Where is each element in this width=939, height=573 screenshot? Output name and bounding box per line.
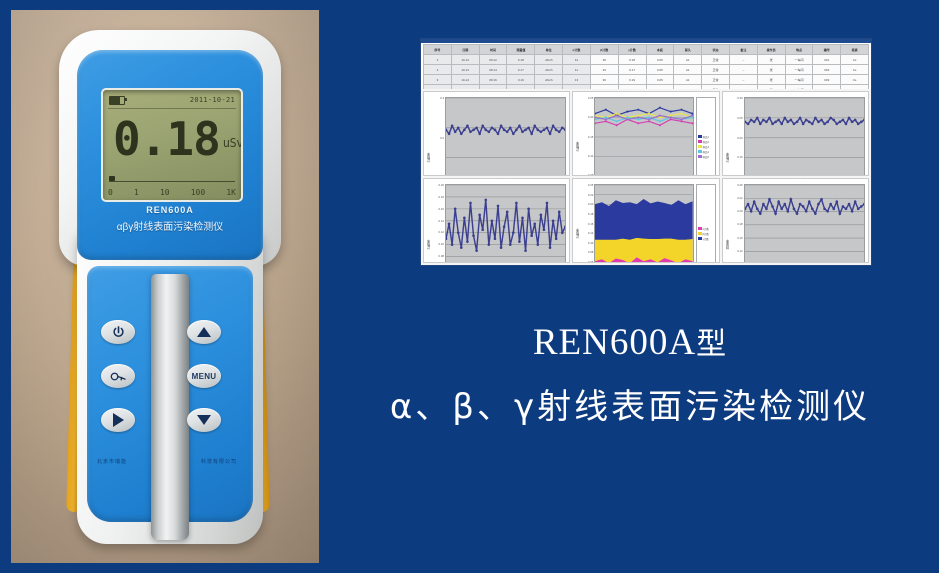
legend-label: 样品3 [703, 145, 709, 149]
chart-y-tick: 0.22 [588, 194, 593, 197]
table-cell: Cs [841, 65, 869, 75]
lcd-display: 2011-10-21 0.18 uSv/h 0 1 10 100 1K [101, 88, 243, 202]
backlight-button[interactable] [101, 364, 135, 388]
table-cell: 0.18 [507, 55, 535, 65]
chart-y-tick: 0.15 [737, 156, 742, 159]
chart-body: 计数率0.250.200.150.100.050样品1样品2样品3样品4样品5 [573, 95, 718, 176]
lcd-bargraph [109, 176, 235, 182]
chart-y-tick: 0.20 [737, 210, 742, 213]
legend-swatch [698, 145, 702, 148]
table-cell: 0.17 [507, 65, 535, 75]
product-photo: 2011-10-21 0.18 uSv/h 0 1 10 100 1K REN6… [11, 10, 319, 563]
up-button[interactable] [187, 320, 221, 344]
chart-y-axis-label: 剂量率 [724, 184, 731, 263]
table-cell: 13 [563, 75, 591, 85]
table-header-cell: 编号 [813, 45, 841, 55]
table-header-row: 序号日期时间测量值单位α计数β计数γ计数本底探头状态备注操作员地点编号核素 [424, 45, 869, 55]
table-header-cell: 序号 [424, 45, 452, 55]
chart-body: 计数率0.30.20.10 [424, 95, 569, 176]
chart-y-ticks: 0.250.220.200.180.150.120.100.080.050 [731, 184, 744, 263]
software-screenshot: 序号日期时间测量值单位α计数β计数γ计数本底探头状态备注操作员地点编号核素110… [420, 38, 872, 266]
table-header-cell: 单位 [535, 45, 563, 55]
lcd-scale-tick: 0 [108, 188, 113, 197]
legend-label: 样品2 [703, 140, 709, 144]
chart-y-tick: 0.05 [588, 174, 593, 176]
chart-y-axis-label: 计数率 [574, 184, 581, 263]
table-cell: 张 [757, 65, 785, 75]
legend-label: 样品5 [703, 155, 709, 159]
table-cell: 10-21 [451, 75, 479, 85]
table-header-cell: 时间 [479, 45, 507, 55]
legend-swatch [698, 135, 702, 138]
chart-y-tick: 0.10 [439, 243, 444, 246]
page-subtitle: α、β、γ射线表面污染检测仪 [330, 384, 930, 430]
chart-y-tick: 0.25 [588, 97, 593, 100]
lcd-value: 0.18 [107, 116, 220, 162]
chart-y-tick: 0.30 [737, 97, 742, 100]
table-header-cell: 探头 [674, 45, 702, 55]
table-cell: -- [729, 55, 757, 65]
chart-y-tick: 0.12 [588, 232, 593, 235]
table-cell: 一车间 [785, 55, 813, 65]
device-maker-text-right: 科技有限公司 [201, 458, 237, 465]
device-model-label: REN600A [77, 205, 263, 215]
chart-body: 计数率0.250.220.200.180.150.120.100.080.050… [573, 182, 718, 263]
table-cell: 0.05 [646, 55, 674, 65]
table-cell: 正常 [702, 55, 730, 65]
table-cell: 0.05 [646, 75, 674, 85]
chart-legend: 样品1样品2样品3样品4样品5 [696, 97, 716, 176]
table-cell: 10-21 [451, 55, 479, 65]
table-header-cell: 日期 [451, 45, 479, 55]
chart-card: γ剂量率曲线剂量率0.250.220.200.180.150.120.100.0… [722, 178, 869, 263]
table-cell: 09:16 [479, 75, 507, 85]
play-icon [113, 413, 124, 427]
table-header-cell: 备注 [729, 45, 757, 55]
legend-item: γ计数 [698, 237, 714, 241]
legend-swatch [698, 140, 702, 143]
down-button[interactable] [187, 408, 221, 432]
chart-card: γ计数率曲线计数率0.300.250.200.150.100.050151015… [722, 91, 869, 176]
device-maker-text-left: 北京市瑞能 [97, 458, 127, 465]
heading-block: REN600A型 α、β、γ射线表面污染检测仪 [330, 318, 930, 430]
chart-y-tick: 0.2 [440, 137, 444, 140]
chart-y-axis-label: 计数率 [724, 97, 731, 176]
table-header-cell: 状态 [702, 45, 730, 55]
chart-y-tick: 0.15 [588, 136, 593, 139]
chart-card: 平均值-变化曲线计数率0.30.20.101510152025303540测量点 [423, 91, 570, 176]
table-cell: 0.19 [618, 75, 646, 85]
chart-y-tick: 0.10 [588, 155, 593, 158]
table-cell: 正常 [702, 65, 730, 75]
data-table: 序号日期时间测量值单位α计数β计数γ计数本底探头状态备注操作员地点编号核素110… [421, 43, 871, 89]
table-cell: uSv/h [535, 55, 563, 65]
table-cell: 09:14 [479, 65, 507, 75]
chart-y-ticks: 0.250.200.150.100.050 [581, 97, 594, 176]
table-cell: A1 [674, 75, 702, 85]
chart-y-axis-label: 计数率 [574, 97, 581, 176]
table-cell: 36 [590, 75, 618, 85]
table-cell: 0.05 [646, 65, 674, 75]
table-header-cell: 操作员 [757, 45, 785, 55]
table-header-cell: γ计数 [618, 45, 646, 55]
legend-swatch [698, 227, 702, 230]
chart-card: α、β混合样品计数率（分组）曲线计数率0.250.200.150.100.050… [572, 91, 719, 176]
triangle-down-icon [197, 415, 211, 425]
triangle-up-icon [197, 327, 211, 337]
table-header-cell: 核素 [841, 45, 869, 55]
table-cell: 001 [813, 55, 841, 65]
chart-y-tick: 0.3 [440, 97, 444, 100]
lcd-divider [108, 108, 236, 109]
power-icon [111, 325, 126, 340]
table-cell: 3 [424, 75, 452, 85]
table-cell: Cs [841, 55, 869, 65]
table-row[interactable]: 310-2109:160.19uSv/h13360.190.05A1正常--张一… [424, 75, 869, 85]
table-cell: 2 [424, 65, 452, 75]
chart-y-tick: 0.10 [588, 242, 593, 245]
table-cell: 09:12 [479, 55, 507, 65]
chart-y-tick: 0.08 [588, 251, 593, 254]
chart-y-tick: 0.25 [588, 184, 593, 187]
table-header-cell: β计数 [590, 45, 618, 55]
radiation-detector-device: 2011-10-21 0.18 uSv/h 0 1 10 100 1K REN6… [39, 30, 295, 549]
lcd-scale-tick: 1K [226, 188, 236, 197]
table-cell: 0.17 [618, 65, 646, 75]
table-cell: 0.18 [618, 55, 646, 65]
chart-card: α、β、γ叠加曲线计数率0.250.220.200.180.150.120.10… [572, 178, 719, 263]
legend-label: 样品4 [703, 150, 709, 154]
legend-item: 样品5 [698, 155, 714, 159]
chart-card: 本底涨落曲线计数率0.200.180.160.140.120.100.080.0… [423, 178, 570, 263]
table-header-cell: α计数 [563, 45, 591, 55]
lcd-reading: 0.18 uSv/h [107, 112, 237, 166]
chart-y-tick: 0.18 [439, 196, 444, 199]
table-cell: uSv/h [535, 75, 563, 85]
power-button[interactable] [101, 320, 135, 344]
lcd-unit: uSv/h [223, 136, 243, 150]
chart-y-tick: 0.25 [737, 117, 742, 120]
table-cell: 003 [813, 75, 841, 85]
legend-item: 样品2 [698, 140, 714, 144]
chart-y-tick: 0.22 [737, 197, 742, 200]
legend-swatch [698, 232, 702, 235]
table-cell: A1 [674, 65, 702, 75]
chart-y-tick: 0.18 [588, 213, 593, 216]
menu-button-label: MENU [192, 372, 217, 381]
chart-y-tick: 0.15 [737, 237, 742, 240]
table-cell: 0.19 [507, 75, 535, 85]
model-suffix: 型 [696, 327, 727, 362]
legend-label: 样品1 [703, 135, 709, 139]
legend-swatch [698, 237, 702, 240]
legend-swatch [698, 150, 702, 153]
charts-grid: 平均值-变化曲线计数率0.30.20.101510152025303540测量点… [421, 89, 871, 265]
table-cell: 33 [590, 65, 618, 75]
chart-y-axis-label: 计数率 [425, 184, 432, 263]
chart-y-ticks: 0.250.220.200.180.150.120.100.080.050.02… [581, 184, 594, 263]
chart-y-tick: 0.20 [588, 203, 593, 206]
table-cell: -- [729, 75, 757, 85]
table-header-cell: 地点 [785, 45, 813, 55]
page-title: REN600A型 [330, 318, 930, 370]
legend-label: α计数 [703, 227, 709, 231]
table-row[interactable]: 110-2109:120.18uSv/h12350.180.05A1正常--张一… [424, 55, 869, 65]
chart-y-ticks: 0.200.180.160.140.120.100.080.060.040.02… [432, 184, 445, 263]
chart-plot-area [744, 184, 865, 263]
chart-y-tick: 0.20 [439, 184, 444, 187]
table-cell: Cs [841, 75, 869, 85]
start-button[interactable] [101, 408, 135, 432]
table-cell: A1 [674, 55, 702, 65]
chart-legend: α计数β计数γ计数 [696, 184, 716, 263]
device-hand-strap [151, 274, 189, 540]
model-name: REN600A [533, 322, 696, 363]
legend-label: β计数 [703, 232, 709, 236]
chart-y-axis-label: 计数率 [425, 97, 432, 176]
lcd-status-bar: 2011-10-21 [109, 94, 235, 106]
chart-y-tick: 0.16 [439, 208, 444, 211]
table-cell: 张 [757, 55, 785, 65]
chart-y-ticks: 0.300.250.200.150.100.050 [731, 97, 744, 176]
legend-item: 样品4 [698, 150, 714, 154]
chart-y-tick: 0.15 [588, 223, 593, 226]
chart-y-tick: 0.08 [439, 255, 444, 258]
chart-plot-area [744, 97, 865, 176]
chart-y-tick: 0.18 [737, 223, 742, 226]
table-cell: 11 [563, 65, 591, 75]
legend-item: β计数 [698, 232, 714, 236]
table-cell: 10-21 [451, 65, 479, 75]
legend-label: γ计数 [703, 237, 709, 241]
legend-swatch [698, 155, 702, 158]
legend-item: 样品3 [698, 145, 714, 149]
device-description-label: αβγ射线表面污染检测仪 [69, 218, 271, 233]
chart-y-tick: 0.14 [439, 220, 444, 223]
lcd-scale-tick: 100 [191, 188, 205, 197]
table-row[interactable]: 210-2109:140.17uSv/h11330.170.05A1正常--张一… [424, 65, 869, 75]
table-header-cell: 测量值 [507, 45, 535, 55]
lcd-scale-tick: 10 [160, 188, 170, 197]
battery-icon [109, 96, 125, 105]
key-icon [110, 370, 127, 383]
table-header-cell: 本底 [646, 45, 674, 55]
lcd-clock: 2011-10-21 [190, 96, 235, 104]
chart-plot-area [445, 184, 566, 263]
lcd-bargraph-fill [109, 176, 115, 181]
table-cell: 一车间 [785, 65, 813, 75]
chart-y-tick: 0.12 [439, 231, 444, 234]
chart-body: 计数率0.200.180.160.140.120.100.080.060.040… [424, 182, 569, 263]
lcd-scale-tick: 1 [134, 188, 139, 197]
chart-y-tick: 0.20 [737, 137, 742, 140]
chart-body: 剂量率0.250.220.200.180.150.120.100.080.050 [723, 182, 868, 263]
menu-button[interactable]: MENU [187, 364, 221, 388]
lcd-scale: 0 1 10 100 1K [108, 186, 236, 198]
chart-y-ticks: 0.30.20.10 [432, 97, 445, 176]
chart-plot-area [594, 97, 693, 176]
table-cell: uSv/h [535, 65, 563, 75]
chart-plot-area [594, 184, 693, 263]
chart-y-tick: 0.05 [588, 261, 593, 263]
legend-item: 样品1 [698, 135, 714, 139]
table-cell: 一车间 [785, 75, 813, 85]
chart-plot-area [445, 97, 566, 176]
table-cell: -- [729, 65, 757, 75]
table-cell: 002 [813, 65, 841, 75]
chart-body: 计数率0.300.250.200.150.100.050 [723, 95, 868, 176]
chart-y-tick: 0.20 [588, 116, 593, 119]
table-cell: 35 [590, 55, 618, 65]
table-cell: 1 [424, 55, 452, 65]
table-cell: 正常 [702, 75, 730, 85]
chart-y-tick: 0.12 [737, 250, 742, 253]
legend-item: α计数 [698, 227, 714, 231]
chart-y-tick: 0.25 [737, 184, 742, 187]
table-cell: 12 [563, 55, 591, 65]
table-cell: 张 [757, 75, 785, 85]
